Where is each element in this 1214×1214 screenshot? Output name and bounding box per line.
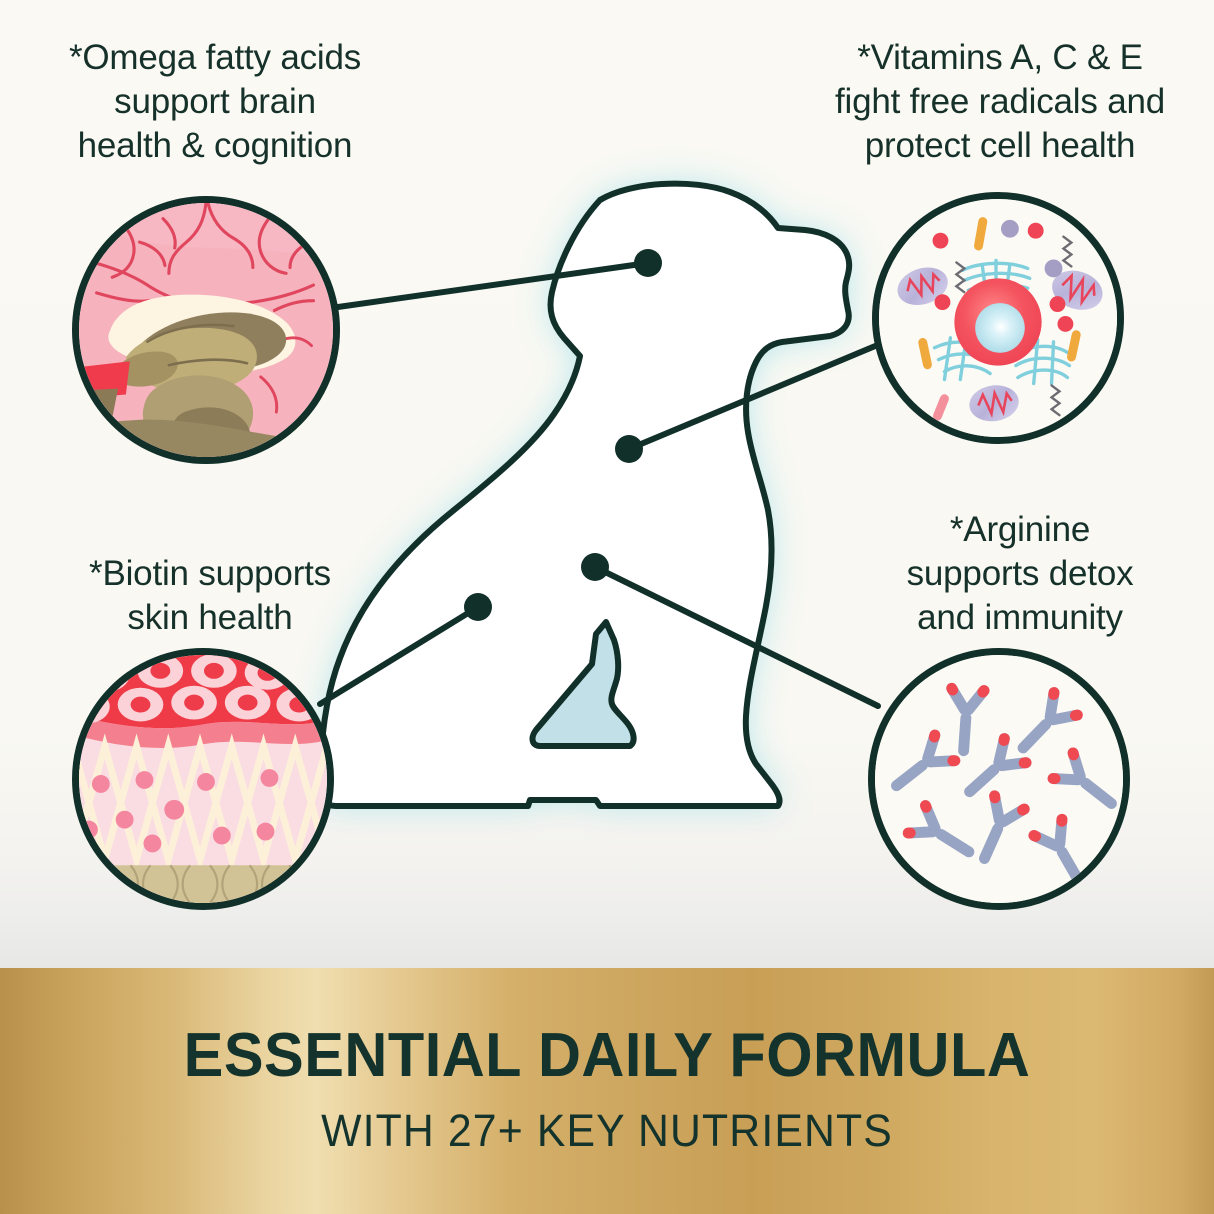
nucleolus xyxy=(975,303,1025,353)
connector-dot-biotin xyxy=(464,593,492,621)
callout-label-vitamins: *Vitamins A, C & E fight free radicals a… xyxy=(800,36,1200,168)
callout-label-omega: *Omega fatty acids support brain health … xyxy=(20,36,410,168)
connector-dot-omega xyxy=(634,249,662,277)
skin-layers-icon xyxy=(72,648,334,910)
antibodies-icon xyxy=(868,648,1130,910)
infographic-root: *Omega fatty acids support brain health … xyxy=(0,0,1214,1214)
connector-vitamins xyxy=(629,344,880,449)
connector-omega xyxy=(331,263,648,308)
brain-cross-section-icon xyxy=(72,196,340,464)
callout-label-biotin: *Biotin supports skin health xyxy=(35,552,385,640)
animal-cell-icon xyxy=(872,192,1124,444)
connector-dot-vitamins xyxy=(615,435,643,463)
callout-label-arginine: *Arginine supports detox and immunity xyxy=(855,508,1185,640)
connector-dot-arginine xyxy=(581,553,609,581)
gold-banner xyxy=(0,968,1214,1214)
connector-arginine xyxy=(595,567,878,706)
banner-subtitle: WITH 27+ KEY NUTRIENTS xyxy=(30,1105,1183,1157)
banner-title: ESSENTIAL DAILY FORMULA xyxy=(24,1020,1189,1091)
